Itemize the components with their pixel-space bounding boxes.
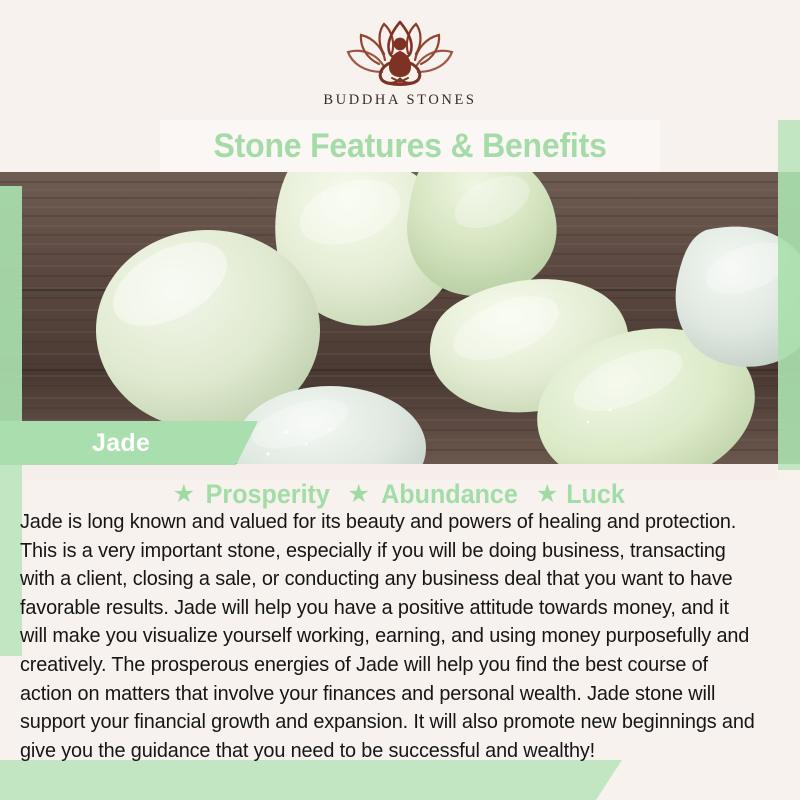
stone-description: Jade is long known and valued for its be… <box>20 508 761 765</box>
title-banner: Stone Features & Benefits <box>160 120 660 172</box>
star-icon: ★ <box>348 482 370 507</box>
stone-name-label: Jade <box>92 429 150 458</box>
page-title: Stone Features & Benefits <box>213 127 606 166</box>
decorative-band-bottom-left <box>0 760 622 800</box>
stone-name-banner: Jade <box>0 421 258 465</box>
brand-logo: BUDDHA STONES <box>323 18 476 109</box>
stone-photo-image <box>0 172 800 464</box>
lotus-meditation-icon <box>338 18 462 90</box>
benefit-label: Prosperity <box>206 479 330 510</box>
benefits-row: ★ Prosperity ★ Abundance ★ Luck <box>0 478 800 510</box>
brand-header: BUDDHA STONES <box>0 0 800 120</box>
infographic-page: BUDDHA STONES Stone Features & Benefits <box>0 0 800 800</box>
benefit-label: Abundance <box>381 479 518 510</box>
benefit-item-abundance: ★ Abundance <box>348 479 523 510</box>
stone-photo <box>0 172 800 464</box>
benefit-item-luck: ★ Luck <box>536 479 627 510</box>
benefit-item-prosperity: ★ Prosperity <box>173 479 335 510</box>
brand-wordmark: BUDDHA STONES <box>323 92 476 109</box>
star-icon: ★ <box>173 482 195 507</box>
benefit-label: Luck <box>567 479 626 510</box>
star-icon: ★ <box>536 482 558 507</box>
